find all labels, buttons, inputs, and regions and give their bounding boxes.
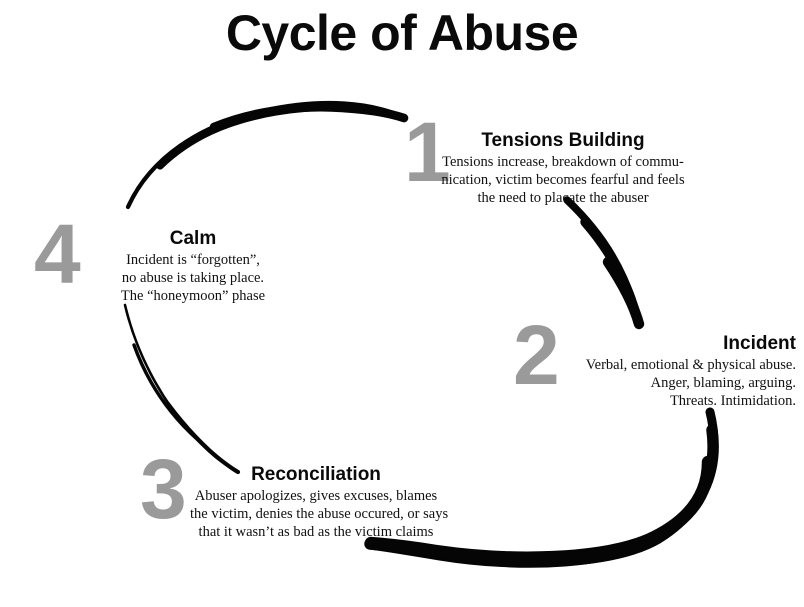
arc-4-to-1 — [128, 103, 404, 207]
stage-3-body-line: Abuser apologizes, gives excuses, blames — [190, 487, 442, 505]
stage-3-body-line: that it wasn’t as bad as the victim clai… — [190, 523, 442, 541]
stage-number-4: 4 — [34, 212, 79, 296]
stage-block-reconciliation: Reconciliation Abuser apologizes, gives … — [190, 464, 442, 542]
stage-block-calm: Calm Incident is “forgotten”, no abuse i… — [98, 228, 288, 306]
stage-4-body-line: The “honeymoon” phase — [98, 287, 288, 305]
stage-2-body-line: Verbal, emotional & physical abuse. — [540, 356, 796, 374]
stage-2-heading: Incident — [540, 333, 796, 355]
cycle-of-abuse-diagram: Cycle of Abuse 1 2 3 — [0, 0, 804, 607]
stage-1-heading: Tensions Building — [432, 130, 694, 152]
stage-1-body-line: nication, victim becomes fearful and fee… — [432, 171, 694, 189]
stage-4-body-line: no abuse is taking place. — [98, 269, 288, 287]
stage-2-body-line: Threats. Intimidation. — [540, 392, 796, 410]
stage-block-incident: Incident Verbal, emotional & physical ab… — [540, 333, 796, 411]
stage-1-body-line: the need to placate the abuser — [432, 189, 694, 207]
stage-3-body: Abuser apologizes, gives excuses, blames… — [190, 487, 442, 542]
stage-1-body: Tensions increase, breakdown of commu- n… — [432, 153, 694, 208]
stage-4-body-line: Incident is “forgotten”, — [98, 251, 288, 269]
stage-1-body-line: Tensions increase, breakdown of commu- — [432, 153, 694, 171]
stage-number-3: 3 — [140, 447, 185, 531]
stage-2-body: Verbal, emotional & physical abuse. Ange… — [540, 356, 796, 411]
stage-3-body-line: the victim, denies the abuse occured, or… — [190, 505, 442, 523]
stage-4-heading: Calm — [98, 228, 288, 250]
arc-1-to-2 — [567, 200, 639, 324]
stage-2-body-line: Anger, blaming, arguing. — [540, 374, 796, 392]
stage-3-heading: Reconciliation — [190, 464, 442, 486]
stage-4-body: Incident is “forgotten”, no abuse is tak… — [98, 251, 288, 306]
stage-block-tensions-building: Tensions Building Tensions increase, bre… — [432, 130, 694, 208]
